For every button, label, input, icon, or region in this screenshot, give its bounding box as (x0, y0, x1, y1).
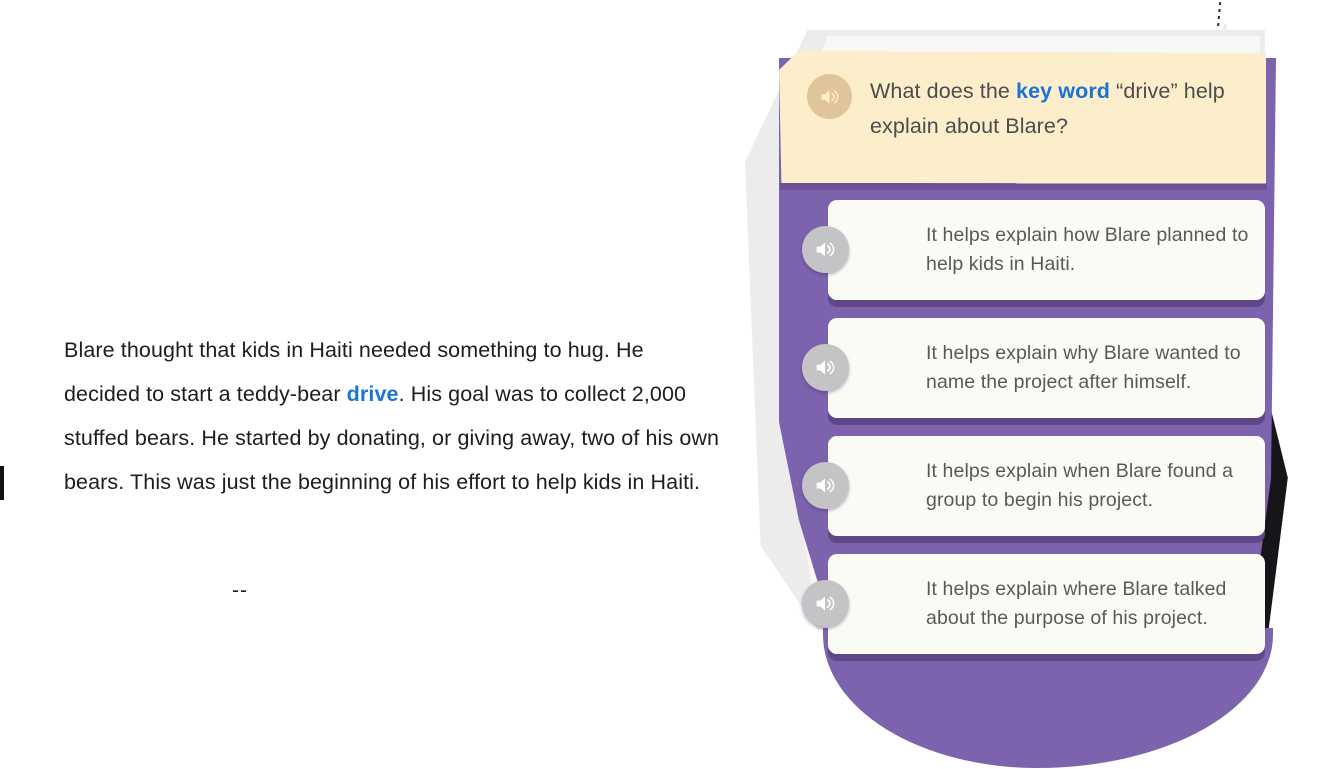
answer-option-1-label: It helps explain how Blare planned to he… (926, 221, 1249, 279)
question-header: What does the key word “drive” help expl… (779, 51, 1266, 187)
answer-option-3-speaker-icon[interactable] (802, 462, 849, 509)
passage-line-6: beginning of his effort to help kids in … (298, 470, 700, 494)
answer-option-2[interactable]: It helps explain why Blare wanted to nam… (800, 318, 1270, 434)
passage-keyword-drive: drive (347, 382, 399, 406)
answer-option-3-label: It helps explain when Blare found a grou… (926, 457, 1249, 515)
answer-option-4[interactable]: It helps explain where Blare talked abou… (800, 554, 1270, 670)
question-prefix: What does the (870, 79, 1016, 103)
answer-option-1-card[interactable]: It helps explain how Blare planned to he… (828, 200, 1265, 300)
passage-line-3: . His goal was to (399, 382, 558, 406)
quiz-panel: What does the key word “drive” help expl… (735, 0, 1318, 769)
answer-option-2-card[interactable]: It helps explain why Blare wanted to nam… (828, 318, 1265, 418)
question-text: What does the key word “drive” help expl… (870, 74, 1240, 144)
answer-option-2-speaker-icon[interactable] (802, 344, 849, 391)
answer-option-1-speaker-icon[interactable] (802, 226, 849, 273)
header-divider-strip (780, 183, 1267, 190)
passage-paragraph: Blare thought that kids in Haiti needed … (64, 328, 724, 504)
edge-artifact-mark (0, 466, 4, 500)
screen: Blare thought that kids in Haiti needed … (0, 0, 1318, 769)
passage-text: Blare thought that kids in Haiti needed … (64, 328, 724, 504)
answer-option-4-label: It helps explain where Blare talked abou… (926, 575, 1249, 633)
passage-line-1: Blare thought that kids in Haiti needed … (64, 338, 610, 362)
answer-option-4-speaker-icon[interactable] (802, 580, 849, 627)
answer-options-list: It helps explain how Blare planned to he… (800, 200, 1270, 672)
question-keyword: key word (1016, 79, 1110, 103)
question-speaker-icon[interactable] (807, 74, 852, 119)
answer-option-4-card[interactable]: It helps explain where Blare talked abou… (828, 554, 1265, 654)
answer-option-2-label: It helps explain why Blare wanted to nam… (926, 339, 1249, 397)
answer-option-3[interactable]: It helps explain when Blare found a grou… (800, 436, 1270, 552)
answer-option-1[interactable]: It helps explain how Blare planned to he… (800, 200, 1270, 316)
answer-option-3-card[interactable]: It helps explain when Blare found a grou… (828, 436, 1265, 536)
passage-dash-mark: -- (232, 580, 248, 601)
